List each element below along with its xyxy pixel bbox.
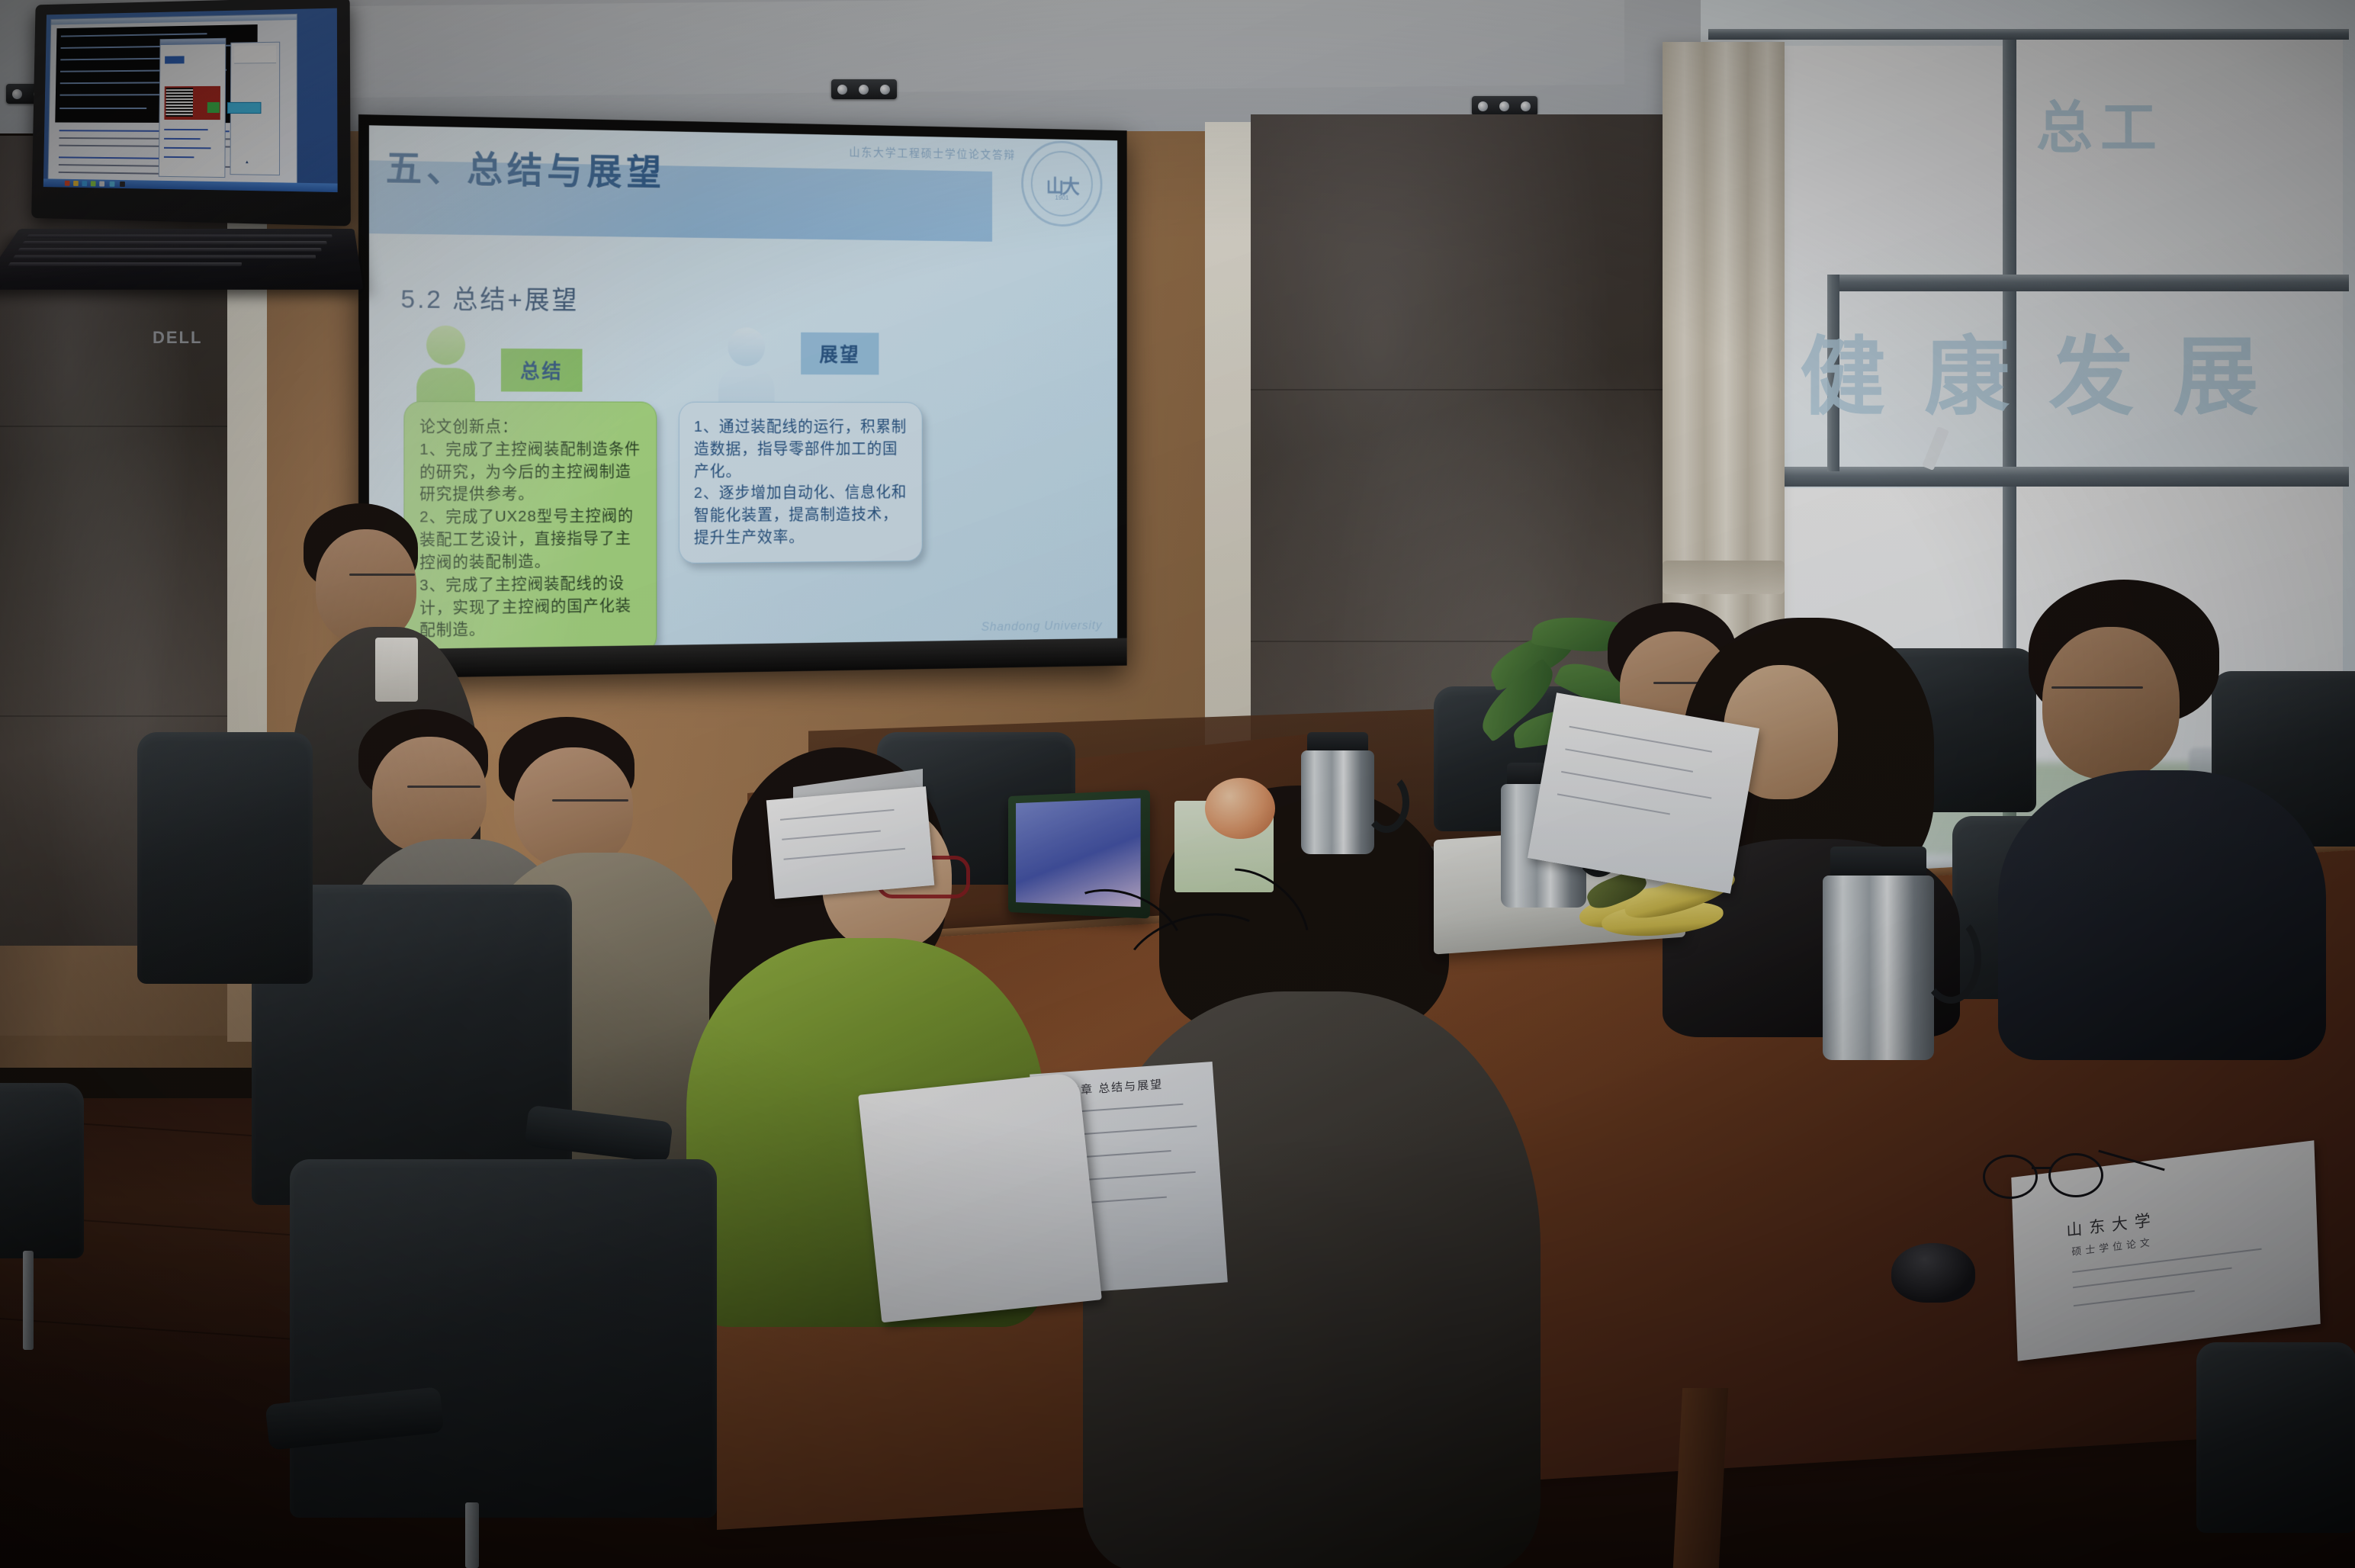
logo-mark-text: 山大 xyxy=(1046,172,1078,199)
ceiling-spotlight xyxy=(831,79,897,99)
logo-year-text: 1901 xyxy=(1055,194,1068,201)
table-leg xyxy=(1673,1388,1728,1568)
conference-room-photo: 总工 健 康 发 展 山东大学工程硕士学位论文答辩 山大 1901 五、总结与展… xyxy=(0,0,2355,1568)
slide-tag-outlook: 展望 xyxy=(801,333,879,375)
slide-subtitle: 5.2 总结+展望 xyxy=(400,278,579,317)
laptop-lid: ▲ xyxy=(31,0,351,227)
glass-signage-top: 总工 xyxy=(2036,82,2164,164)
status-indicator-green xyxy=(207,102,220,113)
slide-tag-summary: 总结 xyxy=(501,349,583,392)
university-logo-icon: 山大 1901 xyxy=(1021,140,1102,227)
blue-item-2: 2、逐步增加自动化、信息化和智能化装置，提高制造技术，提升生产效率。 xyxy=(694,482,908,550)
ceiling-bevel xyxy=(252,0,1624,98)
laptop-screen[interactable]: ▲ xyxy=(43,8,338,192)
slide-title: 五、总结与展望 xyxy=(386,138,666,196)
green-heading: 论文创新点： xyxy=(419,416,641,439)
slide-callout-blue: 1、通过装配线的运行，积累制造数据，指导零部件加工的国产化。 2、逐步增加自动化… xyxy=(679,402,923,564)
window-head-rail xyxy=(1708,29,2349,40)
dell-brand-logo: DELL xyxy=(153,328,202,348)
blue-item-1: 1、通过装配线的运行，积累制造数据，指导零部件加工的国产化。 xyxy=(694,416,908,482)
window-mullion-horizontal xyxy=(1708,467,2349,487)
reading-glasses xyxy=(1983,1152,2166,1197)
shirt-collar xyxy=(375,638,418,702)
qr-code xyxy=(165,88,193,117)
slide-footer: Shandong University xyxy=(982,619,1103,635)
thermos-flask xyxy=(1296,732,1380,854)
laptop-keyboard-base[interactable] xyxy=(0,229,364,290)
office-chair[interactable] xyxy=(290,1159,717,1568)
apple-fruit xyxy=(1205,778,1275,839)
action-button-blue[interactable] xyxy=(227,102,262,114)
office-chair[interactable] xyxy=(0,1083,92,1358)
office-chair[interactable] xyxy=(2196,1342,2355,1568)
curtain-tieback xyxy=(1663,561,1785,594)
person-committee-3 xyxy=(1998,580,2334,1052)
thermos-flask xyxy=(1815,847,1945,1060)
green-item-1: 1、完成了主控阀装配制造条件的研究，为今后的主控阀制造研究提供参考。 xyxy=(419,438,641,506)
held-thesis-page-front xyxy=(858,1072,1102,1323)
ceiling-spotlight xyxy=(1472,96,1537,116)
chat-badge xyxy=(165,56,185,63)
computer-mouse[interactable] xyxy=(1891,1243,1975,1303)
glass-signage-main: 健 康 发 展 xyxy=(1800,308,2266,432)
office-chair[interactable] xyxy=(137,732,313,1052)
slide-header-text: 山东大学工程硕士学位论文答辩 xyxy=(849,144,1015,162)
panel-logo: ▲ xyxy=(245,160,249,165)
window-sash-rail xyxy=(1830,275,2349,291)
papers-stack xyxy=(766,786,935,899)
held-document-right xyxy=(1528,692,1759,894)
